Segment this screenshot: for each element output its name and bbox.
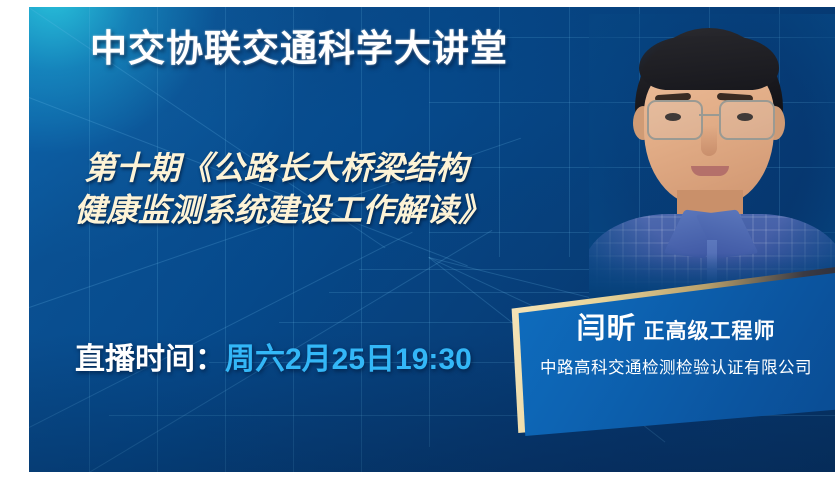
livestream-poster: 中交协联交通科学大讲堂 第十期《公路长大桥梁结构 健康监测系统建设工作解读》 直… — [0, 0, 840, 480]
live-time-label: 直播时间： — [75, 343, 225, 376]
speaker-name-row: 闫昕正高级工程师 — [500, 305, 835, 347]
speaker-organization: 中路高科交通检测检验认证有限公司 — [500, 354, 835, 378]
subtitle-line-1: 第十期《公路长大桥梁结构 — [84, 150, 468, 186]
speaker-name: 闫昕 — [576, 313, 636, 345]
poster-background-panel: 中交协联交通科学大讲堂 第十期《公路长大桥梁结构 健康监测系统建设工作解读》 直… — [29, 7, 835, 472]
page-title: 中交协联交通科学大讲堂 — [90, 30, 508, 67]
speaker-title: 正高级工程师 — [644, 320, 776, 343]
live-time-row: 直播时间：周六2月25日19:30 — [75, 334, 472, 378]
subtitle-line-2: 健康监测系统建设工作解读》 — [74, 189, 604, 231]
live-time-value: 周六2月25日19:30 — [225, 343, 472, 376]
episode-subtitle: 第十期《公路长大桥梁结构 健康监测系统建设工作解读》 — [84, 147, 604, 231]
card-text-block: 闫昕正高级工程师 中路高科交通检测检验认证有限公司 — [500, 257, 835, 437]
speaker-info-card: 闫昕正高级工程师 中路高科交通检测检验认证有限公司 — [500, 257, 835, 447]
